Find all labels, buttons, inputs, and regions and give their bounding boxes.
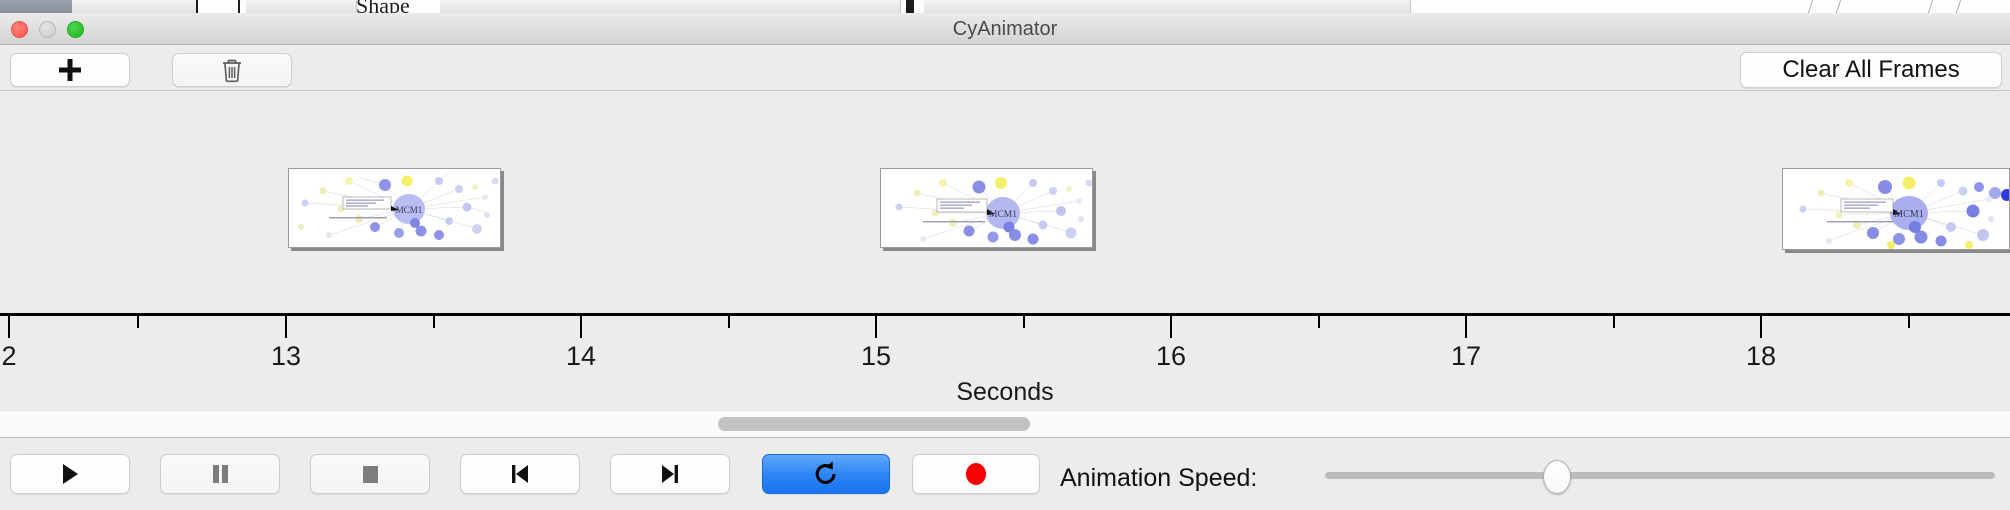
- axis-tick: [1023, 316, 1025, 328]
- loop-icon: [812, 460, 840, 488]
- axis-tick-label: 17: [1451, 341, 1481, 372]
- axis-tick: [8, 316, 10, 338]
- axis-tick: [1908, 316, 1910, 328]
- animation-speed-label: Animation Speed:: [1060, 464, 1257, 493]
- axis-tick: [1760, 316, 1762, 338]
- cyanimator-window: Shape CyAnimator: [0, 0, 2010, 510]
- stop-icon: [357, 461, 383, 487]
- axis-tick: [1318, 316, 1320, 328]
- skip-start-icon: [507, 461, 533, 487]
- axis-tick: [285, 316, 287, 338]
- clear-all-frames-button[interactable]: Clear All Frames: [1740, 52, 2002, 88]
- skip-to-end-button[interactable]: [610, 454, 730, 494]
- network-graph-preview: MCM1: [881, 169, 1093, 248]
- skip-to-start-button[interactable]: [460, 454, 580, 494]
- axis-tick-label: 15: [861, 341, 891, 372]
- axis-tick: [1613, 316, 1615, 328]
- background-window-label: Shape: [356, 0, 410, 13]
- axis-tick-label: 14: [566, 341, 596, 372]
- frame-toolbar: Clear All Frames: [0, 45, 2010, 91]
- axis-tick: [1170, 316, 1172, 338]
- frame-thumbnail-1[interactable]: MCM1: [288, 168, 501, 248]
- animation-speed-slider[interactable]: [1325, 472, 1995, 479]
- animation-speed-slider-thumb[interactable]: [1543, 460, 1571, 494]
- hub-node-label: MCM1: [989, 210, 1017, 220]
- plus-icon: [57, 57, 83, 83]
- axis-tick: [728, 316, 730, 328]
- window-title: CyAnimator: [0, 18, 2010, 41]
- pause-button[interactable]: [160, 454, 280, 494]
- timeline-canvas[interactable]: MCM1: [0, 91, 2010, 410]
- timeline-scrollbar[interactable]: [0, 410, 2010, 438]
- delete-frame-button[interactable]: [172, 53, 292, 87]
- add-frame-button[interactable]: [10, 53, 130, 87]
- frame-thumbnail-2[interactable]: MCM1: [880, 168, 1093, 248]
- axis-tick-label: 2: [1, 341, 16, 372]
- axis-tick: [875, 316, 877, 338]
- play-icon: [57, 461, 83, 487]
- scrollbar-thumb[interactable]: [718, 417, 1030, 431]
- loop-button[interactable]: [762, 454, 890, 494]
- record-icon: [962, 460, 990, 488]
- axis-tick-label: 18: [1746, 341, 1776, 372]
- axis-tick: [137, 316, 139, 328]
- stop-button[interactable]: [310, 454, 430, 494]
- record-button[interactable]: [912, 454, 1040, 494]
- pause-icon: [207, 461, 233, 487]
- skip-end-icon: [657, 461, 683, 487]
- axis-tick-label: 16: [1156, 341, 1186, 372]
- trash-icon: [220, 57, 244, 83]
- frame-thumbnail-3[interactable]: MCM1: [1782, 168, 2010, 250]
- play-button[interactable]: [10, 454, 130, 494]
- axis-title: Seconds: [0, 378, 2010, 407]
- axis-tick: [433, 316, 435, 328]
- playback-controls: Animation Speed:: [0, 438, 2010, 510]
- network-graph-preview: MCM1: [289, 169, 501, 248]
- hub-node-label: MCM1: [396, 205, 423, 215]
- hub-node-label: MCM1: [1894, 209, 1923, 220]
- network-graph-preview: MCM1: [1783, 169, 2010, 250]
- axis-tick-label: 13: [271, 341, 301, 372]
- title-bar: CyAnimator: [0, 13, 2010, 45]
- background-window-strip: Shape: [0, 0, 2010, 13]
- axis-tick: [580, 316, 582, 338]
- timeline-axis: [0, 313, 2010, 316]
- axis-tick: [1465, 316, 1467, 338]
